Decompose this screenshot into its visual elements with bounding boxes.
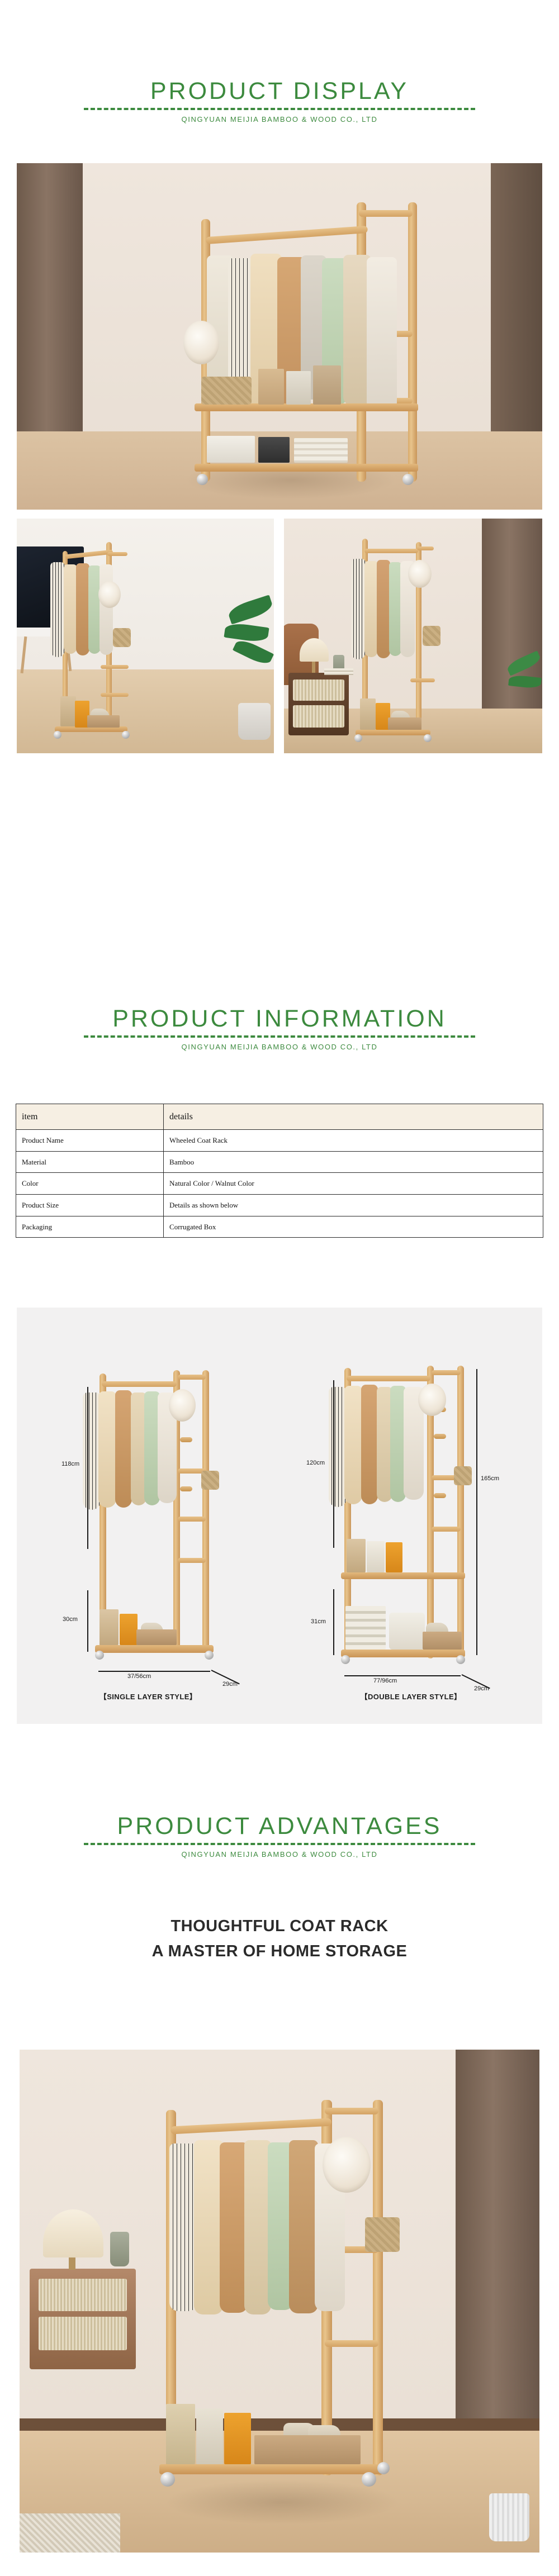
rack-crossbar-top	[325, 2108, 378, 2114]
garment-cream	[100, 564, 113, 655]
garment-tan	[115, 1390, 132, 1508]
storage-basket	[389, 1613, 425, 1650]
baseboard	[20, 2418, 539, 2431]
spec-label: Color	[16, 1173, 164, 1195]
headline-line-2: A MASTER OF HOME STORAGE	[0, 1939, 559, 1964]
caster-left	[354, 734, 362, 742]
rack-post-rear	[202, 1370, 209, 1653]
garment-beige	[98, 1391, 116, 1508]
heading-divider	[84, 108, 475, 110]
side-hook-lower	[180, 1486, 192, 1491]
shoulder-bag	[423, 626, 440, 646]
caster-rear-right	[377, 2462, 390, 2474]
garment-beige	[64, 564, 77, 654]
caster-front-left	[160, 2472, 175, 2487]
paper-bag-orange	[386, 1542, 402, 1572]
floor	[17, 669, 274, 753]
garment-tan	[76, 563, 89, 655]
section-subtitle: QINGYUAN MEIJIA BAMBOO & WOOD CO., LTD	[0, 1043, 559, 1051]
column-header-item: item	[16, 1104, 164, 1130]
caster-front-right	[362, 2472, 376, 2487]
garment-plaid	[351, 559, 366, 659]
lifestyle-photo-bedroom[interactable]	[284, 519, 542, 753]
heading-divider	[84, 1035, 475, 1038]
garment-green	[389, 562, 401, 656]
hat-on-hook	[98, 581, 121, 608]
lamp-base	[69, 2257, 75, 2270]
paper-bag-1	[258, 369, 284, 405]
diagram-caption-single: 【SINGLE LAYER STYLE】	[17, 1691, 279, 1702]
rack-crossbar-2	[101, 665, 129, 669]
rack-crossbar-1	[417, 546, 434, 550]
garment-2	[194, 2140, 223, 2314]
spec-label: Product Size	[16, 1194, 164, 1216]
diagram-single-layer: 118cm 30cm 37/56cm 29cm 【SINGLE LAYER ST…	[17, 1308, 279, 1724]
rack-post-rear	[408, 202, 417, 482]
advantage-hero-photo[interactable]	[20, 2050, 539, 2553]
table-row: Product Name Wheeled Coat Rack	[16, 1130, 543, 1152]
hat-on-hook	[169, 1389, 196, 1422]
shelf-upper	[195, 403, 418, 411]
spec-value: Bamboo	[164, 1151, 543, 1173]
shelf-middle	[341, 1572, 465, 1579]
spec-value: Wheeled Coat Rack	[164, 1130, 543, 1152]
spec-label: Packaging	[16, 1216, 164, 1238]
table-header-row: item details	[16, 1104, 543, 1130]
base-shelf	[356, 730, 430, 735]
garment-6	[289, 2140, 318, 2313]
garment-tan	[361, 1385, 378, 1504]
table-row: Packaging Corrugated Box	[16, 1216, 543, 1238]
measure-label-bottom-height: 30cm	[63, 1616, 78, 1623]
caster-right	[122, 731, 130, 739]
spec-value: Corrugated Box	[164, 1216, 543, 1238]
garment-beige	[344, 1386, 362, 1504]
section-title: PRODUCT INFORMATION	[0, 1006, 559, 1032]
measure-bar-total-height	[476, 1369, 477, 1655]
measure-label-depth: 29cm	[222, 1681, 238, 1688]
caster-front-right	[402, 474, 414, 485]
side-table-drawer-top	[39, 2279, 127, 2311]
rack-crossbar-top	[178, 1375, 206, 1380]
shoulder-bag	[365, 2217, 400, 2252]
measure-label-width: 37/56cm	[127, 1673, 151, 1680]
rack-crossbar-top	[359, 210, 413, 217]
caster-right	[424, 734, 432, 742]
shoe-box	[87, 715, 120, 728]
paper-bag-kraft-1	[166, 2404, 195, 2464]
hat-on-hook	[183, 321, 219, 364]
measure-label-hang-height: 118cm	[61, 1461, 79, 1467]
garment-green	[88, 565, 101, 654]
rack-post-rear	[373, 2100, 383, 2475]
section-heading-advantages: PRODUCT ADVANTAGES QINGYUAN MEIJIA BAMBO…	[0, 1813, 559, 1859]
folded-textiles	[294, 438, 348, 463]
garment-8	[367, 257, 397, 411]
lamp-base	[312, 662, 315, 673]
nightstand-drawer-bottom	[293, 705, 344, 728]
potted-plant	[489, 2493, 529, 2541]
rack-crossbar-3	[101, 693, 129, 697]
plant-pot	[238, 703, 271, 740]
shoe-box	[423, 1632, 462, 1650]
rack-crossbar-1	[107, 552, 127, 556]
storage-box-white	[207, 436, 255, 463]
diagram-caption-double: 【DOUBLE LAYER STYLE】	[279, 1691, 542, 1702]
hat-on-hook	[418, 1384, 446, 1416]
table-row: Material Bamboo	[16, 1151, 543, 1173]
garment-tan	[377, 560, 390, 658]
garment-3	[220, 2142, 248, 2313]
paper-bag-2	[286, 371, 311, 405]
heading-divider	[84, 1843, 475, 1845]
garment-plaid	[50, 562, 65, 657]
spec-value: Natural Color / Walnut Color	[164, 1173, 543, 1195]
rack-crossbar-low	[325, 2340, 378, 2347]
caster-left	[54, 731, 61, 739]
paper-bag-white	[367, 1541, 385, 1572]
spec-label: Product Name	[16, 1130, 164, 1152]
shoulder-bag	[201, 1471, 219, 1490]
advantage-headline: THOUGHTFUL COAT RACK A MASTER OF HOME ST…	[0, 1914, 559, 1964]
hero-product-photo[interactable]	[17, 163, 542, 510]
measure-bar-hang-height	[87, 1387, 88, 1549]
side-hook-mid	[180, 1437, 192, 1442]
section-heading-information: PRODUCT INFORMATION QINGYUAN MEIJIA BAMB…	[0, 1006, 559, 1051]
floor-shadow	[165, 2480, 400, 2525]
hanging-rail	[347, 1376, 430, 1381]
paper-bag-orange	[224, 2413, 251, 2464]
caster-front-left	[197, 474, 208, 485]
base-shelf	[159, 2464, 383, 2474]
rack-post-rear	[457, 1366, 464, 1658]
paper-bag-kraft	[360, 698, 376, 730]
paper-bag-orange	[120, 1614, 138, 1645]
measure-bar-bottom-height	[87, 1590, 88, 1652]
hat-on-hook	[408, 560, 432, 588]
side-table-drawer-bottom	[39, 2317, 127, 2350]
column-header-details: details	[164, 1104, 543, 1130]
paper-bag-kraft	[60, 696, 76, 726]
nightstand-drawer-top	[293, 679, 344, 701]
garment-beige	[364, 561, 378, 657]
measure-bar-width	[98, 1671, 210, 1672]
rack-crossbar-2	[410, 678, 435, 682]
folded-textiles	[345, 1606, 386, 1650]
side-hook-mid	[434, 1434, 446, 1439]
section-subtitle: QINGYUAN MEIJIA BAMBOO & WOOD CO., LTD	[0, 1850, 559, 1859]
measure-label-bottom-height: 31cm	[311, 1618, 326, 1625]
paper-bag-kraft	[347, 1539, 366, 1572]
lifestyle-photo-living-room[interactable]	[17, 519, 274, 753]
spec-value: Details as shown below	[164, 1194, 543, 1216]
garment-4	[244, 2140, 271, 2314]
storage-box-dark	[258, 437, 290, 463]
rack-crossbar-low	[178, 1517, 206, 1522]
table-row: Product Size Details as shown below	[16, 1194, 543, 1216]
paper-bag-3	[313, 365, 341, 405]
section-subtitle: QINGYUAN MEIJIA BAMBOO & WOOD CO., LTD	[0, 115, 559, 123]
caster-left	[95, 1651, 104, 1660]
shoulder-bag	[113, 628, 131, 647]
measure-label-hang-height: 120cm	[306, 1460, 325, 1466]
diagram-double-layer: 120cm 31cm 165cm 77/96cm 29cm 【DOUBLE LA…	[279, 1308, 542, 1724]
hat-on-hook	[323, 2137, 371, 2193]
books-stack	[324, 668, 353, 675]
base-shelf	[341, 1650, 465, 1657]
caster-left	[341, 1655, 350, 1664]
paper-bag-kraft-2	[196, 2408, 223, 2464]
hanging-rail	[102, 1381, 177, 1387]
dimension-diagram-panel: 118cm 30cm 37/56cm 29cm 【SINGLE LAYER ST…	[17, 1308, 542, 1724]
base-shelf	[95, 1645, 214, 1653]
measure-label-width: 77/96cm	[373, 1677, 397, 1684]
spec-label: Material	[16, 1151, 164, 1173]
section-heading-display: PRODUCT DISPLAY QINGYUAN MEIJIA BAMBOO &…	[0, 78, 559, 123]
caster-right	[456, 1655, 465, 1664]
measure-bar-hang-height	[333, 1380, 334, 1548]
headline-line-1: THOUGHTFUL COAT RACK	[0, 1914, 559, 1939]
paper-bag-kraft	[100, 1609, 119, 1645]
woven-basket	[201, 377, 252, 405]
measure-bar-width	[344, 1675, 461, 1676]
vase-with-flowers	[110, 2232, 129, 2266]
hanging-rail	[364, 549, 418, 553]
shoulder-bag	[454, 1466, 472, 1485]
rack-crossbar-top	[432, 1370, 461, 1375]
shelf-lower	[195, 464, 418, 472]
shoe-box	[136, 1629, 177, 1645]
table-row: Color Natural Color / Walnut Color	[16, 1173, 543, 1195]
garment-1	[169, 2144, 197, 2311]
shoe-box	[254, 2435, 361, 2464]
floor-rug	[20, 2513, 120, 2553]
rack-crossbar-bottom	[178, 1558, 206, 1563]
rack-crossbar-low	[432, 1527, 461, 1532]
measure-bar-bottom-height	[333, 1589, 334, 1655]
side-hook-lower	[434, 1493, 446, 1498]
shoe-box	[388, 717, 421, 730]
caster-right	[205, 1651, 214, 1660]
measure-label-total-height: 165cm	[481, 1475, 499, 1482]
section-title: PRODUCT ADVANTAGES	[0, 1813, 559, 1840]
section-title: PRODUCT DISPLAY	[0, 78, 559, 104]
specification-table: item details Product Name Wheeled Coat R…	[16, 1104, 543, 1238]
